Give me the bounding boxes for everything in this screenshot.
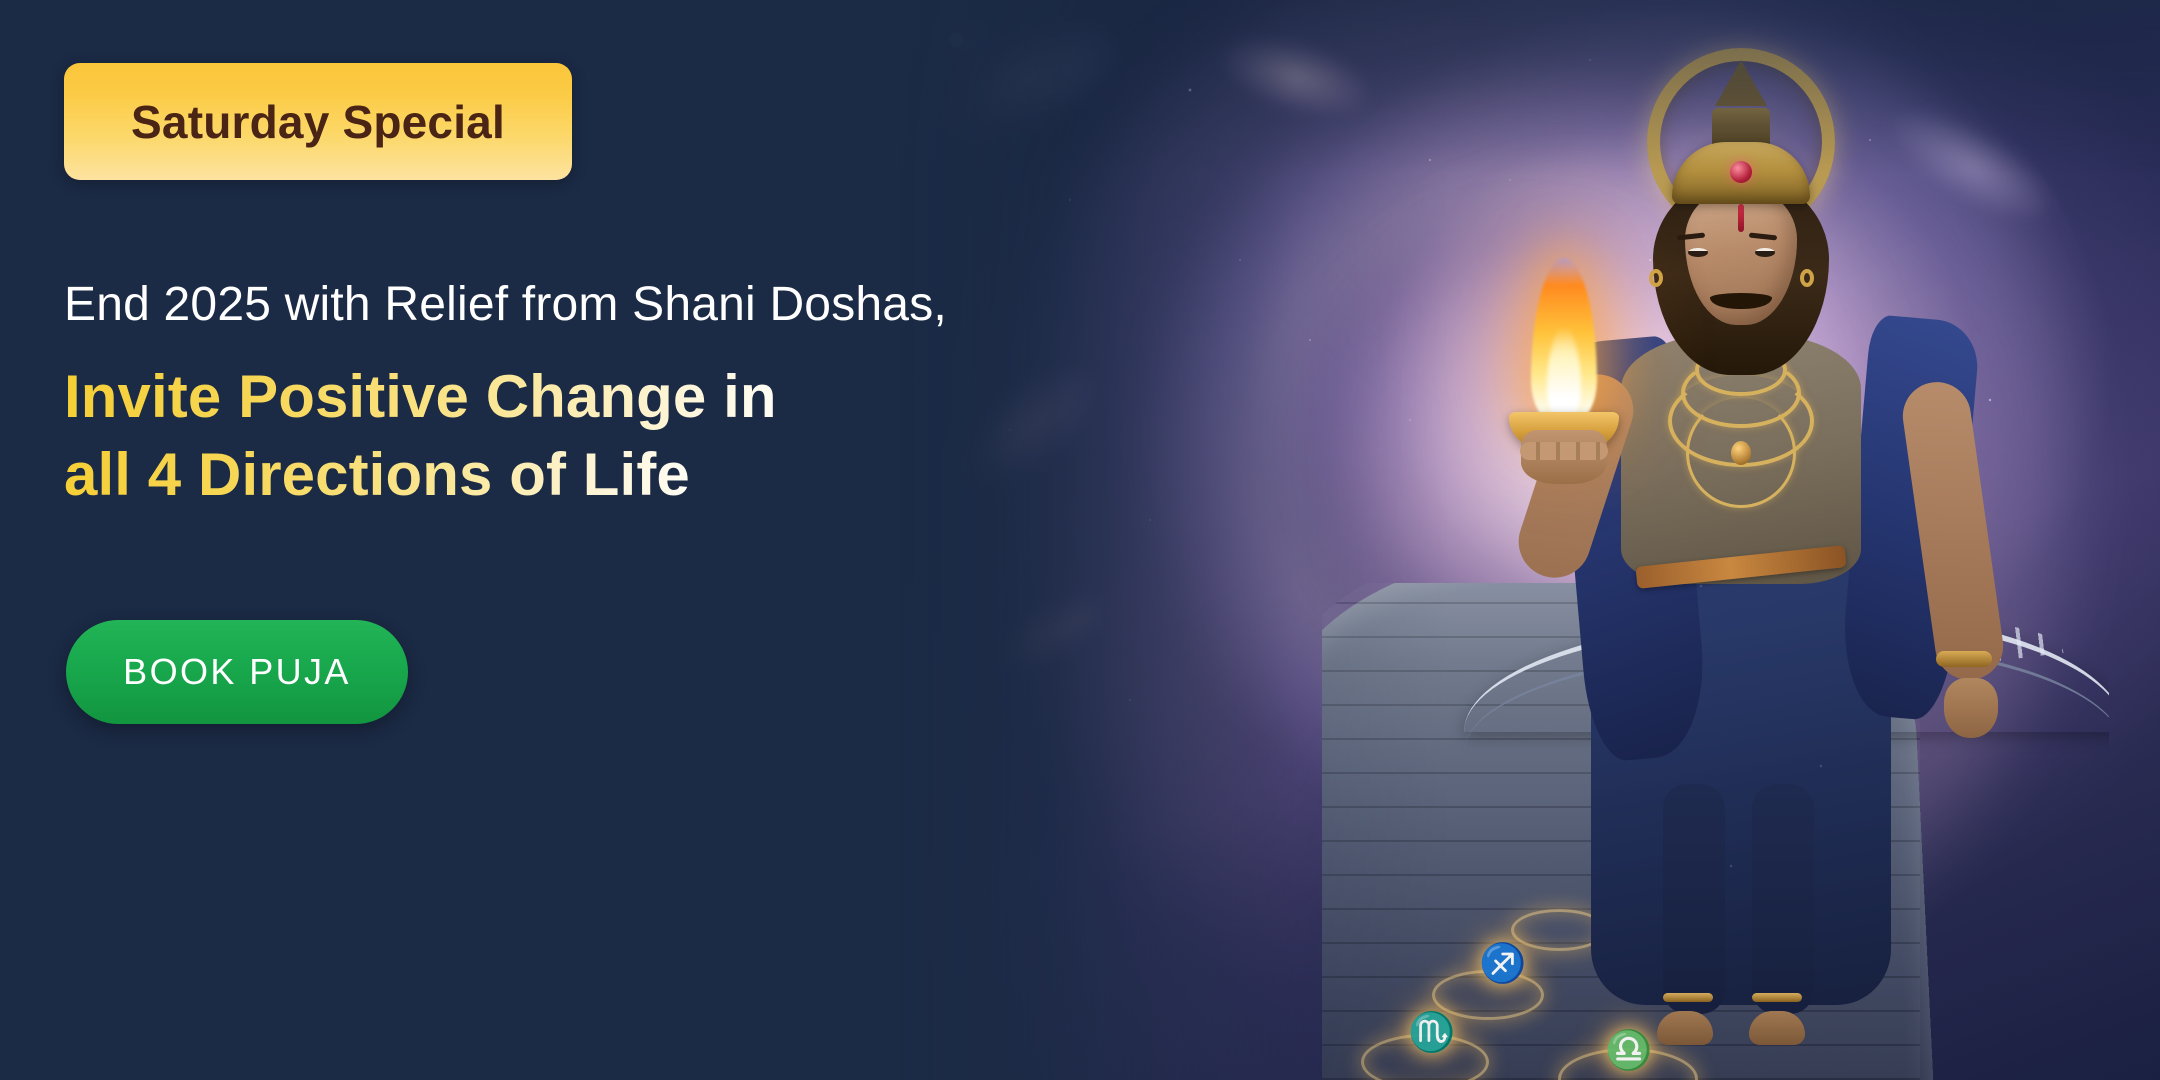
badge-label: Saturday Special [131,95,505,149]
deity-figure [1462,22,2021,1080]
deity-foot-right [1749,1011,1805,1045]
bangle-right [1936,651,1992,667]
anklet-left [1663,993,1713,1002]
deity-leg-left [1663,784,1725,1014]
eye-right [1755,248,1775,257]
deity-foot-left [1657,1011,1713,1045]
crown-gem [1730,161,1752,183]
earring-left [1649,269,1663,287]
earring-right [1800,269,1814,287]
deity-leg-right [1752,784,1814,1014]
diya-lamp [1484,254,1644,484]
eye-left [1688,248,1708,257]
zodiac-scorpio-icon: ♏ [1408,1011,1455,1055]
banner-content: Saturday Special End 2025 with Relief fr… [0,0,1120,1080]
necklace-pendant [1731,441,1751,465]
deity-hand-right [1944,678,1998,738]
headline-line-2: Invite Positive Change in [64,362,777,431]
headline-line-3: all 4 Directions of Life [64,440,690,509]
crown-spire [1715,60,1767,106]
tilak-mark [1738,204,1744,232]
book-puja-button[interactable]: BOOK PUJA [66,620,408,724]
promo-banner: ♏ ♎ ♐ [0,0,2160,1080]
anklet-right [1752,993,1802,1002]
saturday-special-badge: Saturday Special [64,63,572,180]
headline-line-1: End 2025 with Relief from Shani Doshas, [64,277,947,332]
deity-fingers-left [1520,442,1608,460]
